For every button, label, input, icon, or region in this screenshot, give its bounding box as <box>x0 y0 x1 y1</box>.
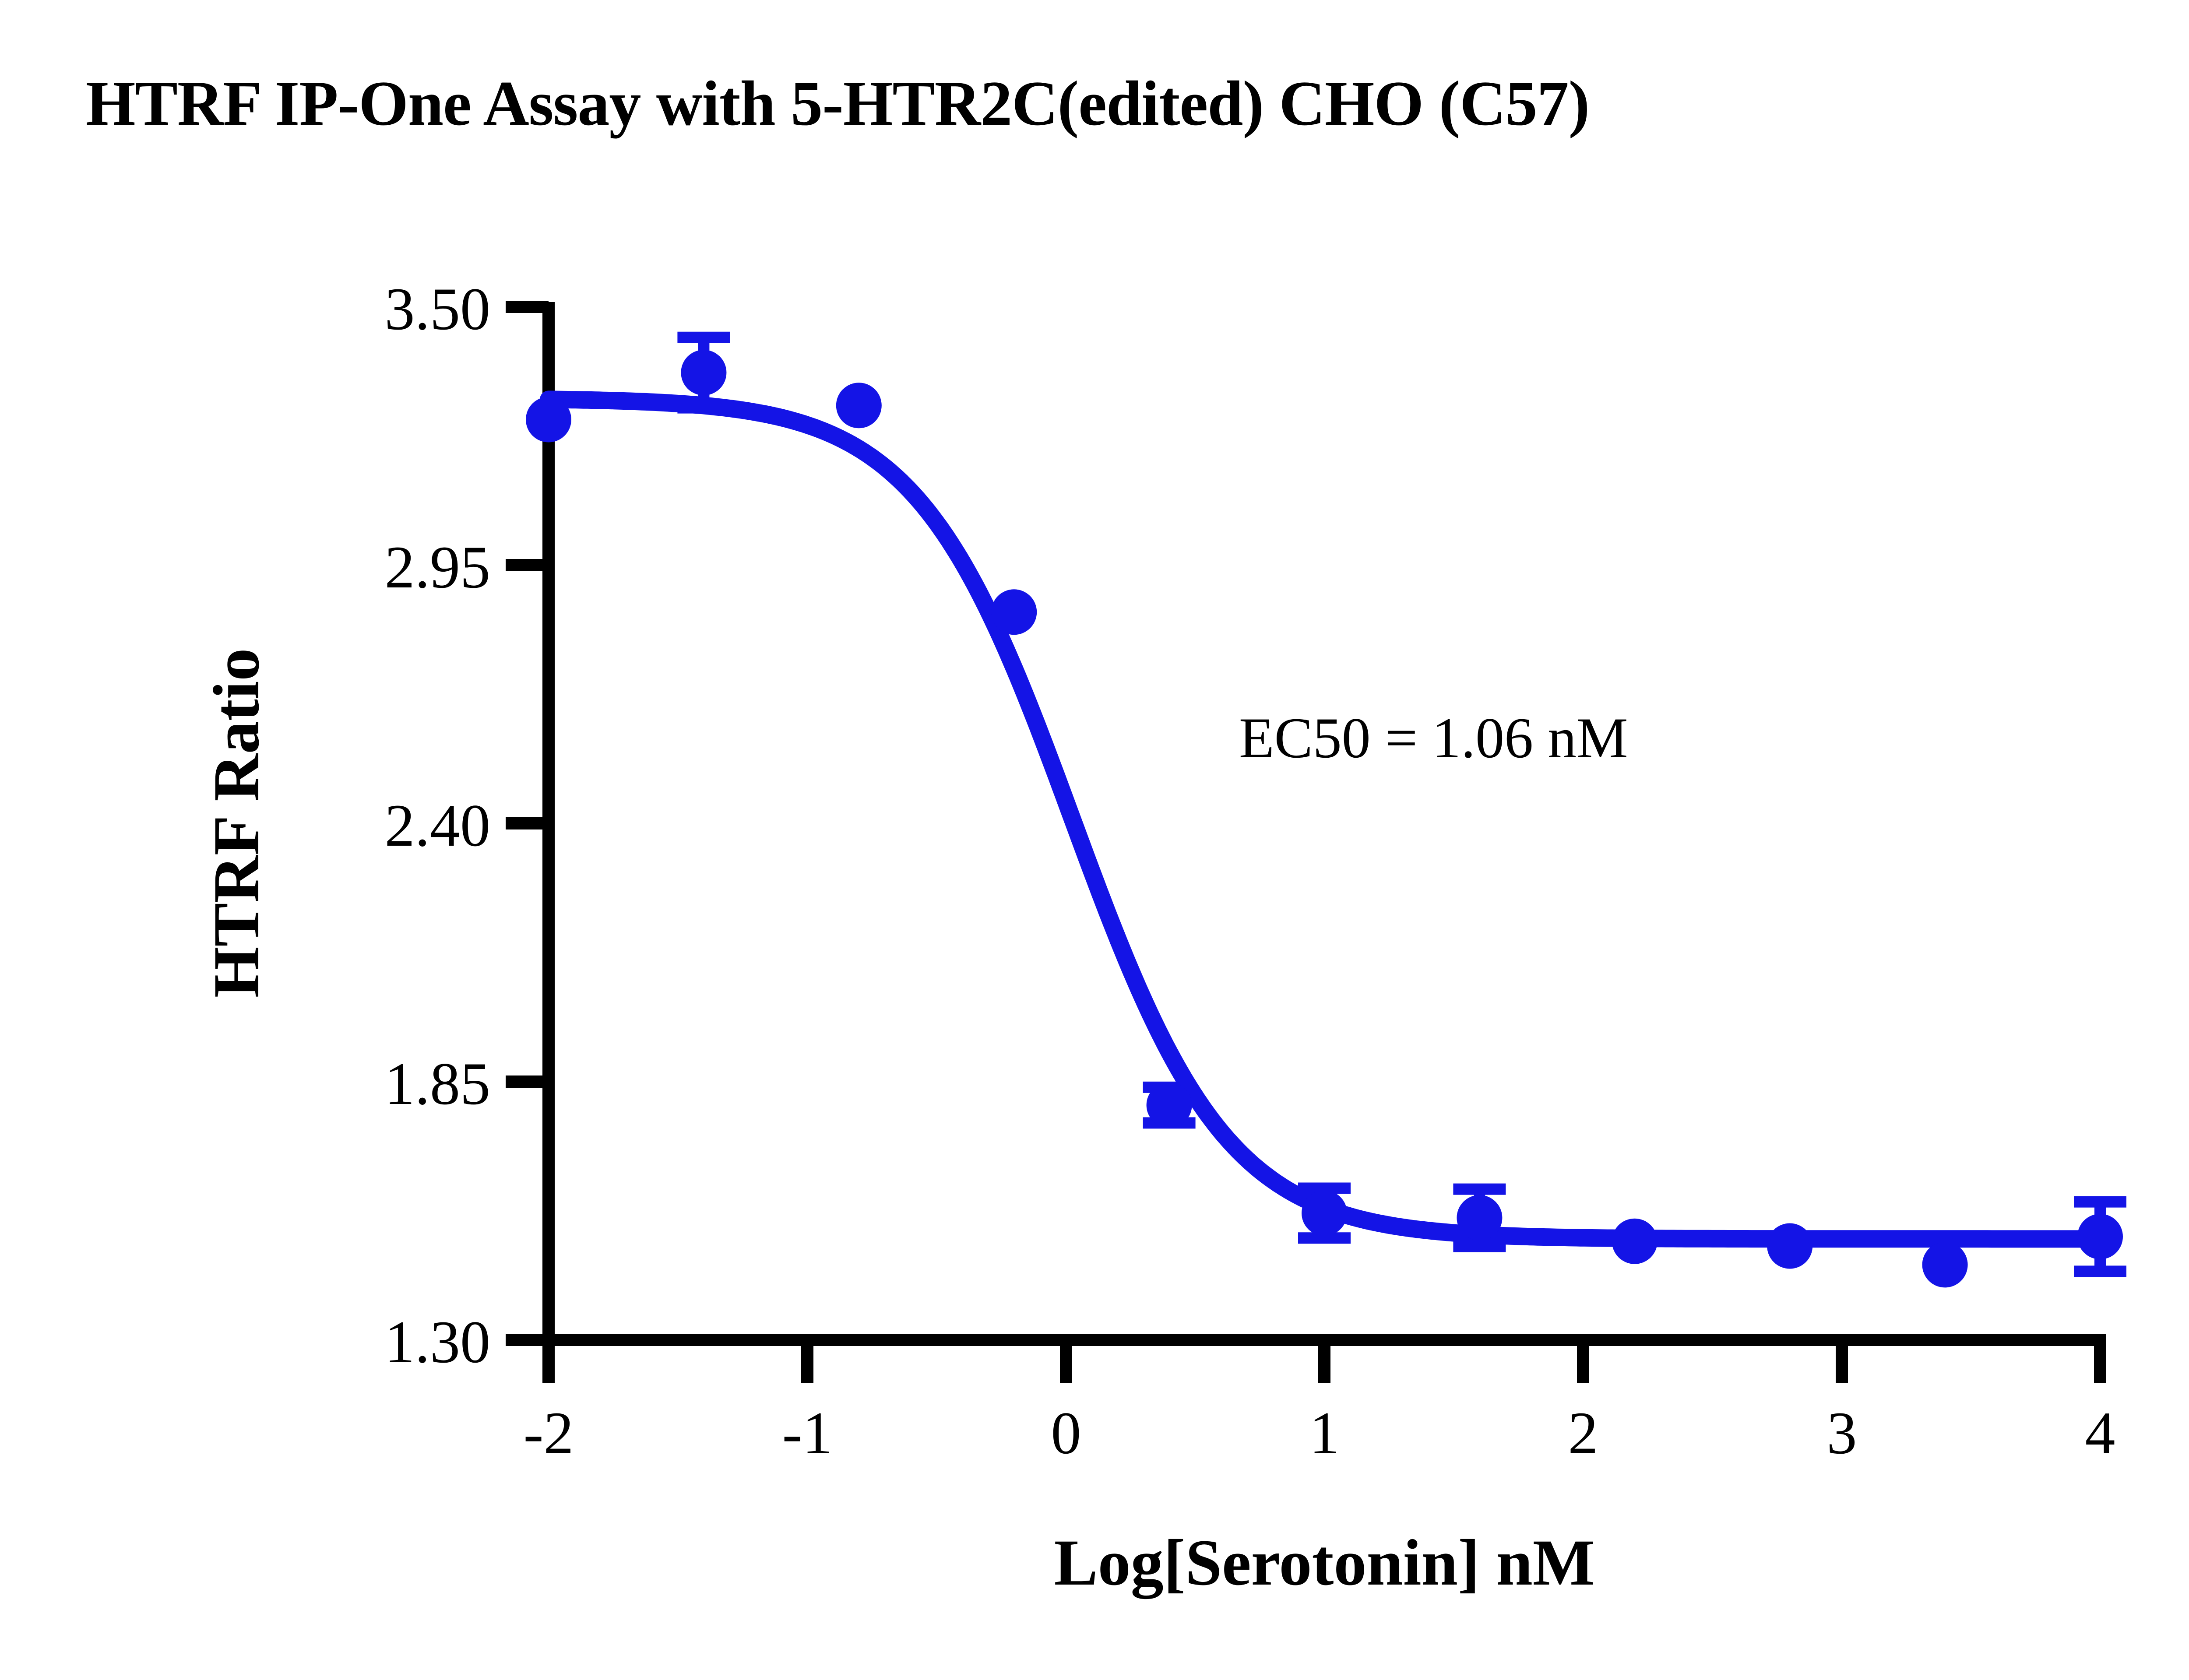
ec50-annotation: EC50 = 1.06 nM <box>1239 706 1628 770</box>
data-point-marker <box>526 397 571 443</box>
data-point-markers <box>526 350 2123 1287</box>
chart-svg: 3.50 2.95 2.40 1.85 1.30 -2 -1 0 1 2 3 4… <box>0 0 2189 1680</box>
data-point-marker <box>1612 1219 1658 1264</box>
data-point-marker <box>681 350 726 395</box>
figure-root: HTRF IP-One Assay with 5-HTR2C(edited) C… <box>0 0 2189 1680</box>
x-tick-labels: -2 -1 0 1 2 3 4 <box>524 1399 2115 1466</box>
ytick-label: 2.95 <box>385 534 491 601</box>
data-point-marker <box>836 383 882 428</box>
ytick-label: 3.50 <box>385 275 491 342</box>
ytick-label: 2.40 <box>385 792 491 859</box>
data-point-marker <box>1302 1190 1347 1236</box>
fit-curve <box>549 399 2100 1239</box>
data-point-marker <box>2077 1214 2123 1259</box>
y-axis-title: HTRF Ratio <box>200 648 273 998</box>
ytick-label: 1.85 <box>385 1050 491 1117</box>
xtick-label: 4 <box>2085 1399 2115 1466</box>
data-point-marker <box>1767 1223 1812 1269</box>
data-point-marker <box>1922 1242 1968 1287</box>
y-tick-marks <box>506 307 549 1340</box>
xtick-label: -2 <box>524 1399 574 1466</box>
xtick-label: 2 <box>1568 1399 1598 1466</box>
data-point-marker <box>991 589 1037 635</box>
y-tick-labels: 3.50 2.95 2.40 1.85 1.30 <box>385 275 491 1375</box>
x-tick-marks <box>549 1340 2100 1383</box>
xtick-label: 3 <box>1827 1399 1857 1466</box>
data-point-marker <box>1147 1083 1192 1128</box>
xtick-label: -1 <box>782 1399 833 1466</box>
xtick-label: 1 <box>1309 1399 1340 1466</box>
xtick-label: 0 <box>1051 1399 1081 1466</box>
data-point-marker <box>1457 1195 1502 1241</box>
chart-plot-area: 3.50 2.95 2.40 1.85 1.30 -2 -1 0 1 2 3 4… <box>0 0 2189 1680</box>
x-axis-title: Log[Serotonin] nM <box>1054 1526 1595 1599</box>
ytick-label: 1.30 <box>385 1308 491 1375</box>
